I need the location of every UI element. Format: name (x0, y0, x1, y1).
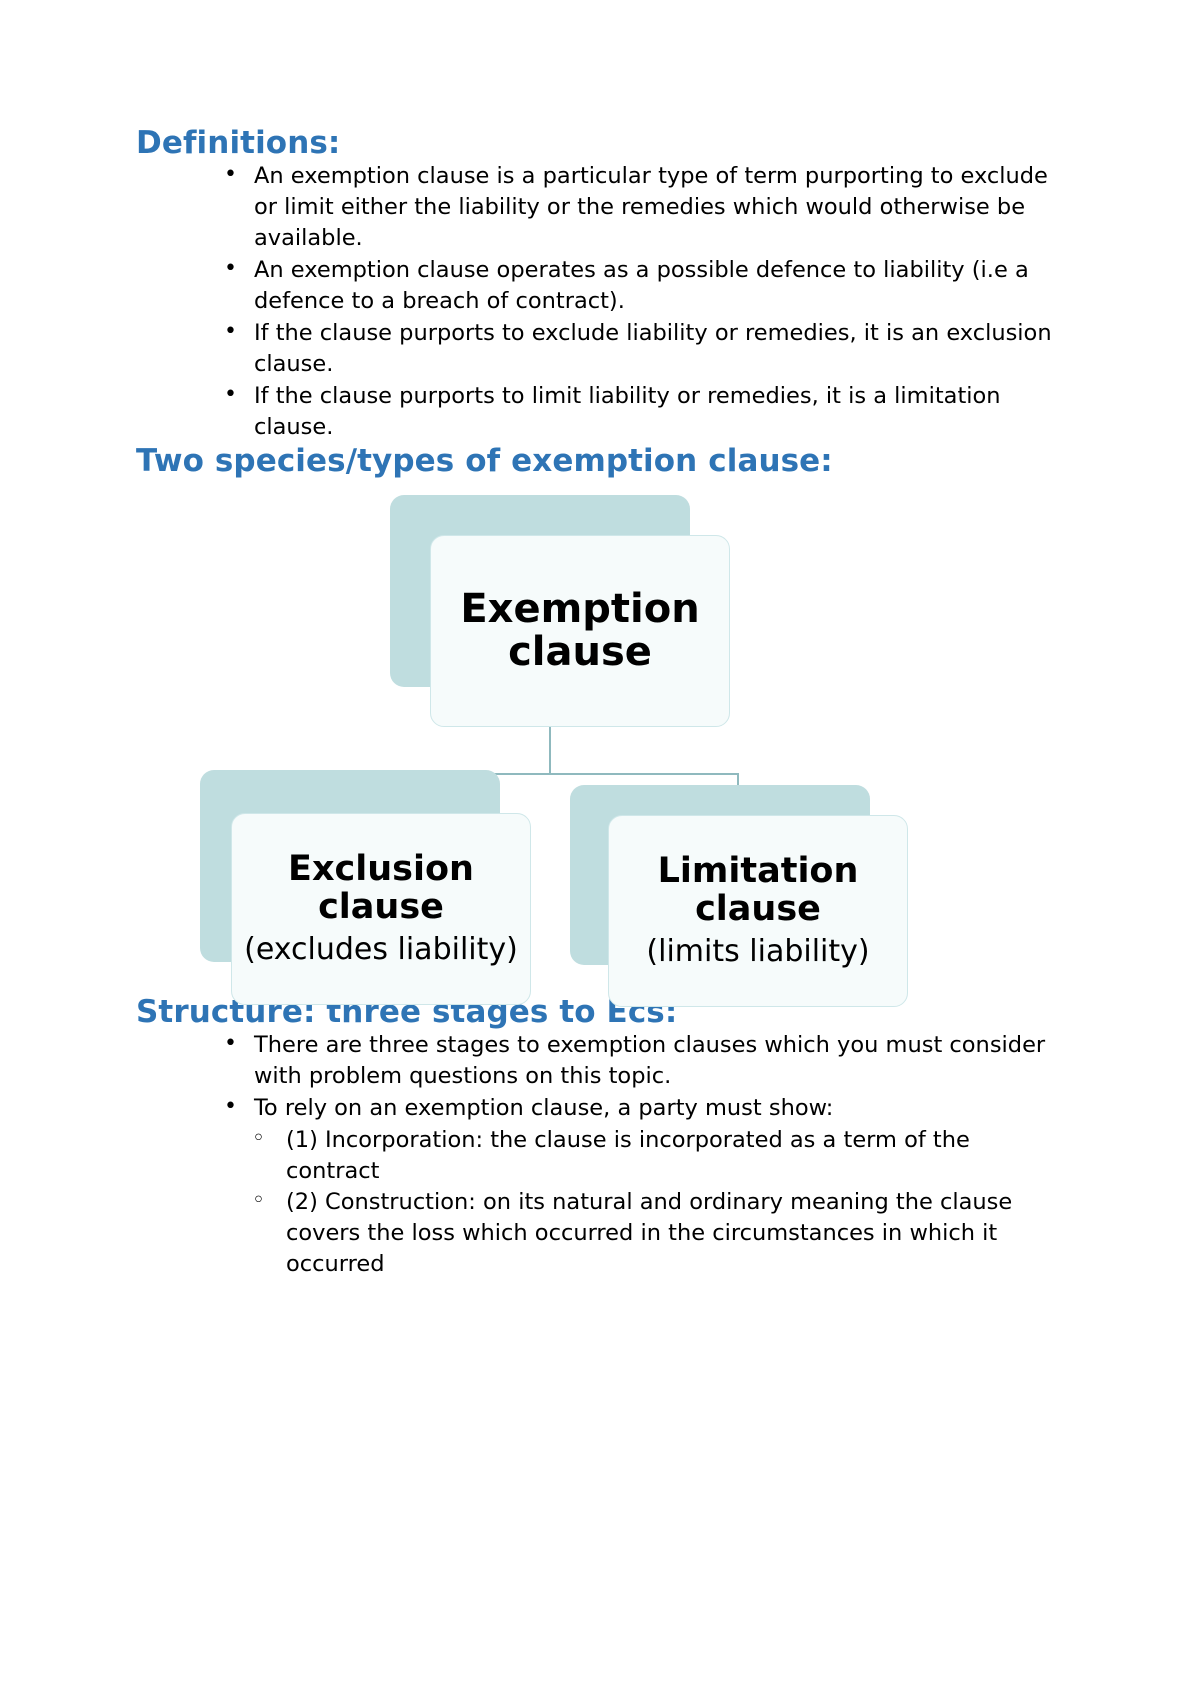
node-card: Exclusion clause (excludes liability) (231, 813, 531, 1005)
list-item: There are three stages to exemption clau… (220, 1030, 1066, 1092)
list-item: (1) Incorporation: the clause is incorpo… (250, 1125, 1066, 1187)
definitions-bullet-list: An exemption clause is a particular type… (136, 161, 1066, 443)
list-item: An exemption clause operates as a possib… (220, 255, 1066, 317)
exemption-clause-hierarchy-diagram: Exemption clause Exclusion clause (exclu… (136, 495, 1066, 995)
node-subtitle: (excludes liability) (244, 934, 518, 966)
node-title: Limitation clause (619, 853, 897, 929)
species-heading: Two species/types of exemption clause: (136, 444, 1066, 479)
node-subtitle: (limits liability) (646, 936, 869, 968)
list-item: If the clause purports to limit liabilit… (220, 381, 1066, 443)
node-card: Exemption clause (430, 535, 730, 727)
diagram-node-exemption-clause: Exemption clause (390, 495, 730, 727)
node-card: Limitation clause (limits liability) (608, 815, 908, 1007)
list-item: (2) Construction: on its natural and ord… (250, 1187, 1066, 1280)
diagram-node-limitation-clause: Limitation clause (limits liability) (570, 785, 910, 1010)
structure-subbullet-list: (1) Incorporation: the clause is incorpo… (136, 1125, 1066, 1280)
structure-bullet-list: There are three stages to exemption clau… (136, 1030, 1066, 1124)
list-item: To rely on an exemption clause, a party … (220, 1093, 1066, 1124)
node-title: Exemption clause (441, 588, 719, 674)
list-item: An exemption clause is a particular type… (220, 161, 1066, 254)
list-item: If the clause purports to exclude liabil… (220, 318, 1066, 380)
definitions-heading: Definitions: (136, 126, 1066, 161)
document-content: Definitions: An exemption clause is a pa… (136, 126, 1066, 1280)
connector-root-stem (549, 727, 551, 775)
node-title: Exclusion clause (242, 851, 520, 927)
document-page: Definitions: An exemption clause is a pa… (0, 0, 1200, 1698)
diagram-node-exclusion-clause: Exclusion clause (excludes liability) (200, 770, 540, 1005)
